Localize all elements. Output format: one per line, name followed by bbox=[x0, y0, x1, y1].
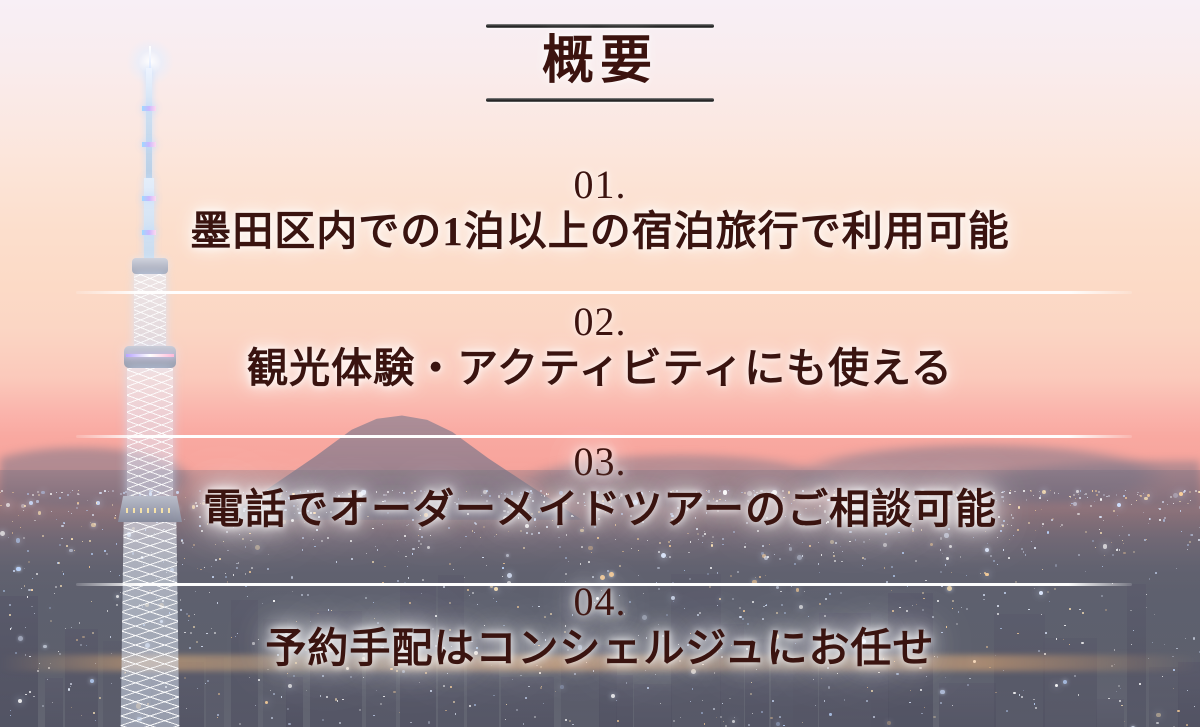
item-number: 04. bbox=[0, 580, 1200, 623]
item-text: 電話でオーダーメイドツアーのご相談可能 bbox=[0, 484, 1200, 534]
title-rule-top bbox=[486, 24, 714, 28]
item-number: 02. bbox=[0, 300, 1200, 343]
overview-item-1: 01. 墨田区内での1泊以上の宿泊旅行で利用可能 bbox=[0, 163, 1200, 256]
slide-content: 概要 01. 墨田区内での1泊以上の宿泊旅行で利用可能 02. 観光体験・アクテ… bbox=[0, 0, 1200, 727]
item-number: 01. bbox=[0, 163, 1200, 206]
item-separator-1 bbox=[76, 291, 1132, 294]
overview-item-2: 02. 観光体験・アクティビティにも使える bbox=[0, 300, 1200, 393]
title-rule-bottom bbox=[486, 98, 714, 102]
item-text: 観光体験・アクティビティにも使える bbox=[0, 343, 1200, 393]
item-separator-3 bbox=[76, 583, 1132, 586]
page-title: 概要 bbox=[542, 35, 658, 90]
overview-item-3: 03. 電話でオーダーメイドツアーのご相談可能 bbox=[0, 440, 1200, 533]
item-number: 03. bbox=[0, 440, 1200, 483]
item-text: 予約手配はコンシェルジュにお任せ bbox=[0, 623, 1200, 673]
page-title-block: 概要 bbox=[0, 24, 1200, 102]
item-text: 墨田区内での1泊以上の宿泊旅行で利用可能 bbox=[0, 206, 1200, 256]
overview-item-list: 01. 墨田区内での1泊以上の宿泊旅行で利用可能 02. 観光体験・アクティビテ… bbox=[0, 150, 1200, 673]
overview-item-4: 04. 予約手配はコンシェルジュにお任せ bbox=[0, 580, 1200, 673]
overview-slide: 概要 01. 墨田区内での1泊以上の宿泊旅行で利用可能 02. 観光体験・アクテ… bbox=[0, 0, 1200, 727]
item-separator-2 bbox=[76, 435, 1132, 438]
